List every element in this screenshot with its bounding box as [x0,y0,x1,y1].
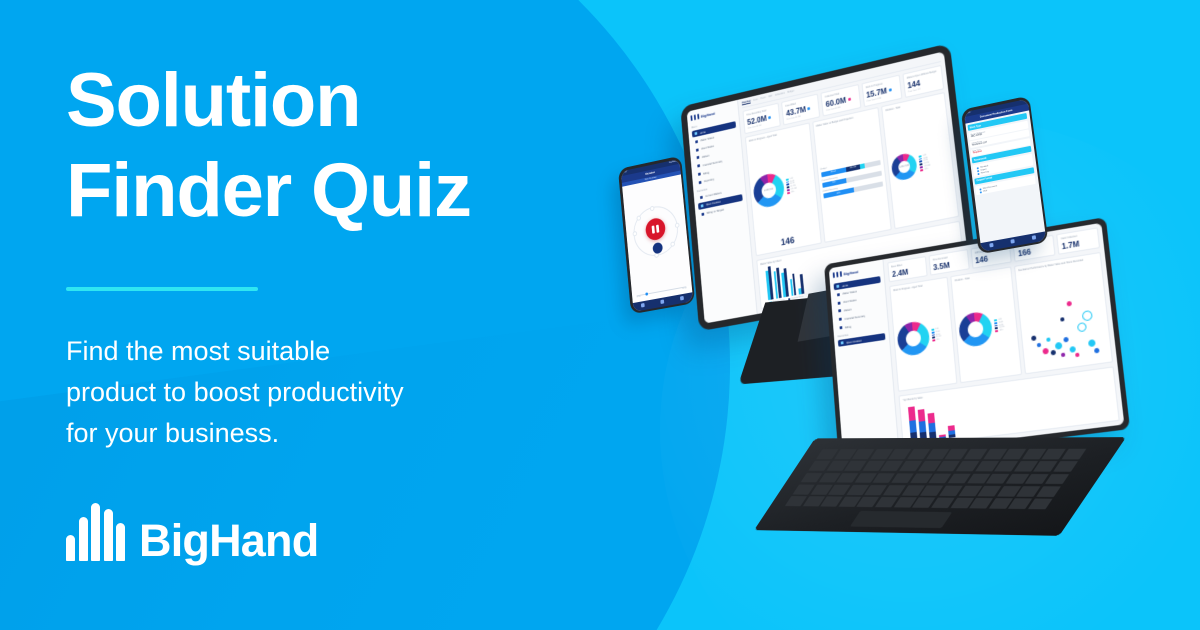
star-icon [841,341,844,344]
chart-icon [697,164,700,167]
users-icon [838,301,841,304]
add-icon[interactable] [1010,239,1014,244]
tab-fees[interactable]: Fees [753,99,758,103]
device-mockup-stage: BigHand Menu Home Matter Status [580,0,1200,630]
chart-icon [839,318,842,321]
profile-icon[interactable] [1032,235,1036,240]
sidebar-item-label: Matters [701,154,709,159]
radio-icon[interactable] [979,188,981,190]
hero-text-column: Solution Finder Quiz Find the most suita… [66,56,586,454]
home-icon [836,285,839,288]
scatter-chart [1019,262,1109,370]
status-time: 9:41 [966,112,970,115]
donut-chart [896,319,930,357]
donut-chart: £156,530 [752,171,785,210]
accent-divider [66,287,258,291]
dictation-body [622,175,691,296]
marketing-banner: Solution Finder Quiz Find the most suita… [0,0,1200,630]
sidebar-item-label: Current Matters [705,191,722,198]
sidebar-app-name: BigHand [701,110,715,118]
trend-dot-icon [848,97,851,100]
page-title: Solution Finder Quiz [66,56,586,235]
panel-work-in-progress: Work In Progress - Aged Total £156,530 0… [745,123,822,257]
donut-legend: 0-30 31-60 61-90 91-120 181+ [994,318,1005,332]
panel-matter-value: Matter Value vs Budget and Projection Bu… [812,107,892,243]
sidebar-item-label: Home [699,130,706,135]
sidebar-item-label: Open Invoices [705,200,721,207]
kpi-value: 3.5M [933,260,950,271]
phone-screen: 9:41 Document Production Form Work Type … [963,98,1045,251]
radio-icon[interactable] [980,191,982,193]
panel-division: Division - Total 0-30 31-60 61-90 91-120… [951,266,1022,383]
star-icon [700,196,703,199]
donut-chart: £302,530 [891,151,919,182]
kpi-card: Cash Collected 1.7M [1056,227,1100,254]
tab-wip[interactable]: WIP [768,96,772,100]
laptop-screen: BigHand Home Matter Status Client Status… [829,223,1125,459]
laptop-dashboard-main: Fees Billed 2.4M Time Recorded 3.5M WIP … [883,223,1124,452]
laptop-keyboard[interactable] [785,449,1087,510]
panel-matter-scatter: Fee Earner Performance by Matter Value a… [1014,251,1113,374]
folder-icon [695,140,698,143]
donut-center-value: £156,530 [752,171,785,210]
panel-aged-wip: Work In Progress - Aged Total 0-30 31-60… [889,276,958,392]
sidebar-item-label: Billing [703,170,710,175]
star-icon [701,204,704,207]
status-time: 9:41 [623,171,627,174]
sidebar-app-name: BigHand [843,269,858,276]
donut-legend: 0-30 31-60 61-90 91-120 181+ [931,328,941,342]
hero-subtitle: Find the most suitable product to boost … [66,331,496,454]
kpi-value: 146 [975,254,989,265]
panel-division-total: Division - Total £302,530 0-30 31-60 61-… [881,92,959,229]
form-body: Work Type Matter Reference ABC-10492 Cli… [965,110,1045,243]
mic-icon[interactable] [660,300,664,305]
folder-icon [837,293,840,296]
briefcase-icon [838,310,841,313]
brand-name: BigHand [139,520,318,561]
kpi-value: 1.7M [1061,239,1080,251]
invoice-icon [840,326,843,329]
phone-screen: 9:41 BigHand Dictation New Dictation [620,158,692,311]
radio-icon[interactable] [977,167,979,169]
tab-budget[interactable]: Budget [787,90,794,94]
sidebar-item-label: Reporting [703,177,714,183]
kpi-value: 166 [1018,247,1032,258]
donut-chart [958,310,994,348]
mobile-phone-form: 9:41 Document Production Form Work Type … [961,96,1049,255]
trend-dot-icon [768,115,771,118]
radio-icon[interactable] [977,170,979,172]
users-icon [696,148,699,151]
list-icon[interactable] [641,303,645,308]
sidebar-item-label: Client Status [701,144,715,151]
sidebar-logo: BigHand [833,265,880,278]
settings-icon[interactable] [680,296,684,301]
kpi-card: Time Recorded 3.5M [928,249,969,275]
tab-hours[interactable]: Hours [760,97,766,101]
tab-overview[interactable]: Overview [742,101,751,106]
trend-dot-icon [889,88,892,92]
donut-center-value: £302,530 [891,151,919,182]
donut-legend: 0-30 31-60 61-90 91-120 121-180 181+ [786,177,797,194]
radio-icon[interactable] [977,173,979,175]
star-icon [701,212,704,215]
sidebar-item-label: Matter Status [700,136,715,143]
trend-dot-icon [808,106,811,109]
bighand-bars-logo-icon [66,503,125,561]
tab-collections[interactable]: Collections [775,93,785,98]
bighand-logo: BigHand [66,503,318,561]
report-icon [699,181,702,184]
invoice-icon [698,172,701,175]
donut-legend: 0-30 31-60 61-90 91-120 121-180 181+ [919,153,931,171]
mobile-phone-dictation: 9:41 BigHand Dictation New Dictation [618,156,695,315]
home-icon [694,132,697,135]
kpi-value: 2.4M [892,267,909,278]
briefcase-icon [697,156,700,159]
sidebar-item-label: Billing vs Targets [706,207,724,215]
kpi-card: Fees Billed 2.4M [887,256,927,282]
forms-icon[interactable] [989,243,993,248]
laptop-trackpad[interactable] [850,511,952,528]
